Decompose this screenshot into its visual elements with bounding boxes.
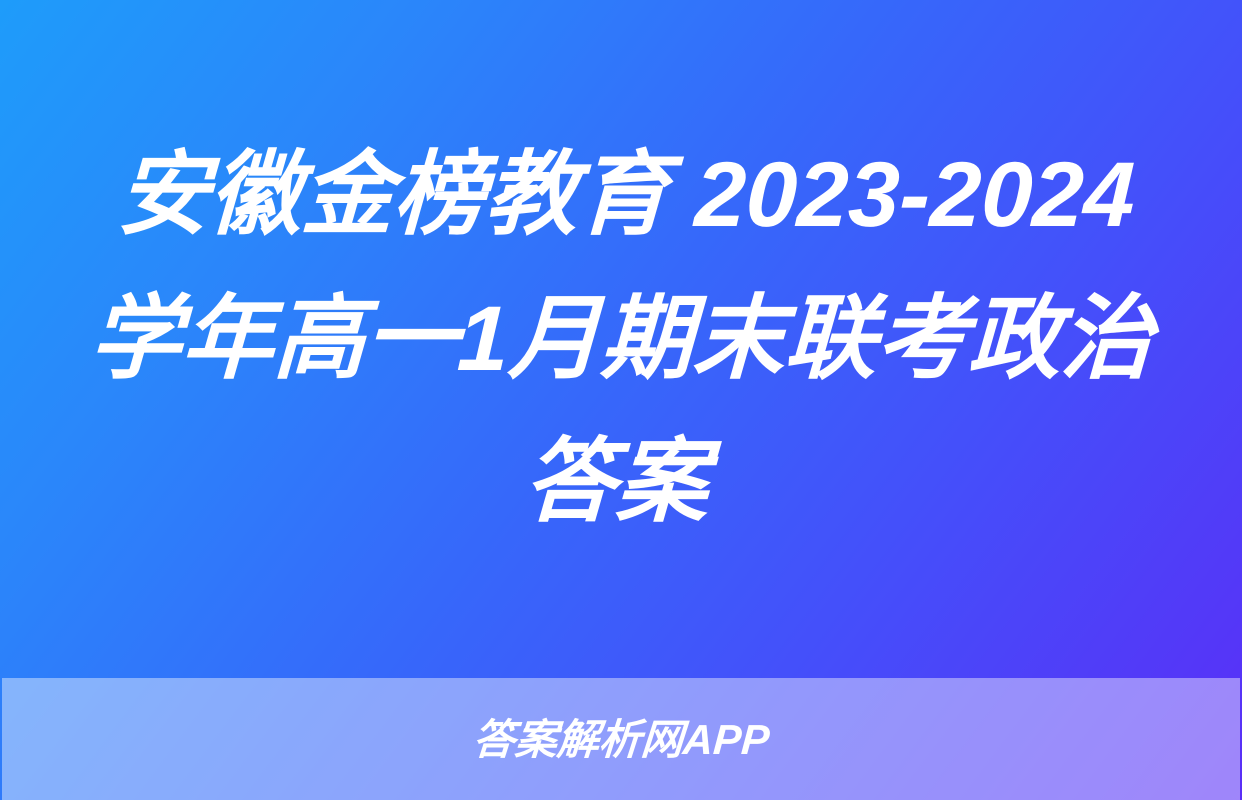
page-title: 安徽金榜教育 2023-2024学年高一1月期末联考政治答案 xyxy=(66,124,1175,555)
watermark-band: 答案解析网APP xyxy=(2,678,1240,800)
watermark-label: 答案解析网APP xyxy=(471,719,770,761)
title-area: 安徽金榜教育 2023-2024学年高一1月期末联考政治答案 xyxy=(0,0,1242,678)
poster-canvas: 安徽金榜教育 2023-2024学年高一1月期末联考政治答案 答案解析网APP xyxy=(0,0,1242,800)
